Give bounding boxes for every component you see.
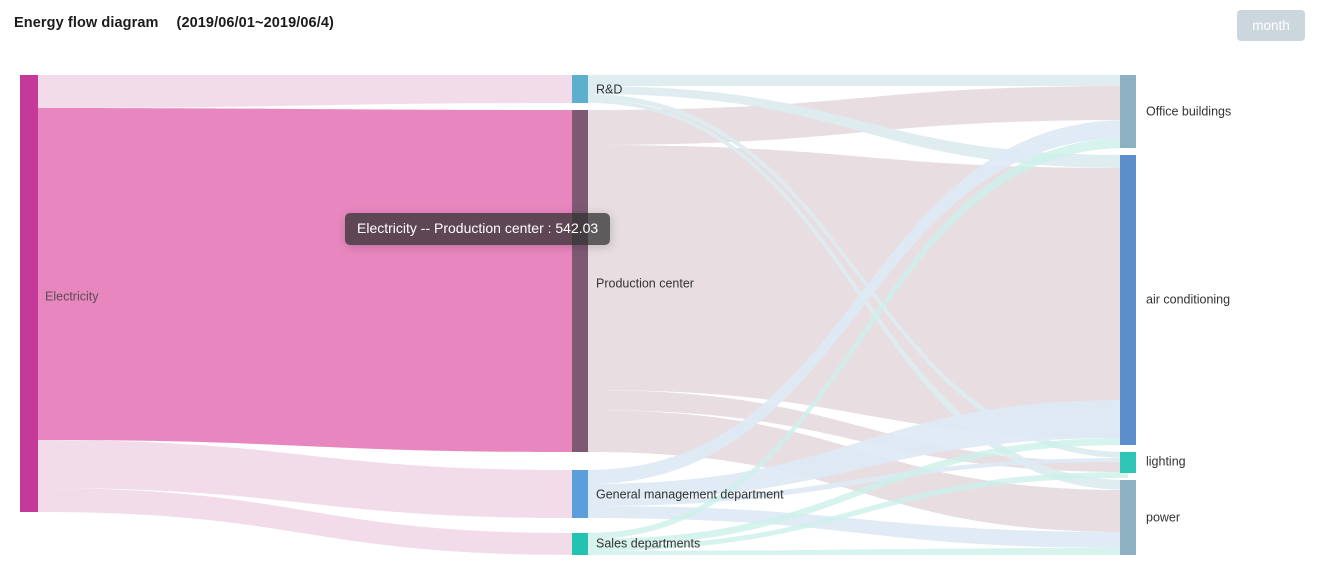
node-label-rd: R&D <box>596 82 622 96</box>
node-label-lighting: lighting <box>1146 454 1186 468</box>
node-power[interactable]: power <box>1120 480 1180 555</box>
node-label-general-management-department: General management department <box>596 487 784 501</box>
link-rd-office-buildings[interactable] <box>588 75 1128 86</box>
node-label-power: power <box>1146 510 1180 524</box>
node-label-office-buildings: Office buildings <box>1146 104 1231 118</box>
sankey-svg: Electricity R&D Production center Genera… <box>0 0 1320 576</box>
node-office-buildings[interactable]: Office buildings <box>1120 75 1231 148</box>
node-label-production-center: Production center <box>596 276 694 290</box>
node-lighting[interactable]: lighting <box>1120 452 1186 473</box>
node-label-sales-departments: Sales departments <box>596 536 700 550</box>
link-electricity-rd[interactable] <box>38 75 572 108</box>
node-label-air-conditioning: air conditioning <box>1146 292 1230 306</box>
link-electricity-production-center[interactable] <box>38 108 572 452</box>
links-electricity <box>38 75 572 555</box>
energy-flow-page: Energy flow diagram (2019/06/01~2019/06/… <box>0 0 1320 576</box>
node-label-electricity: Electricity <box>45 289 99 303</box>
node-air-conditioning[interactable]: air conditioning <box>1120 155 1230 445</box>
sankey-chart: Electricity R&D Production center Genera… <box>0 0 1320 576</box>
